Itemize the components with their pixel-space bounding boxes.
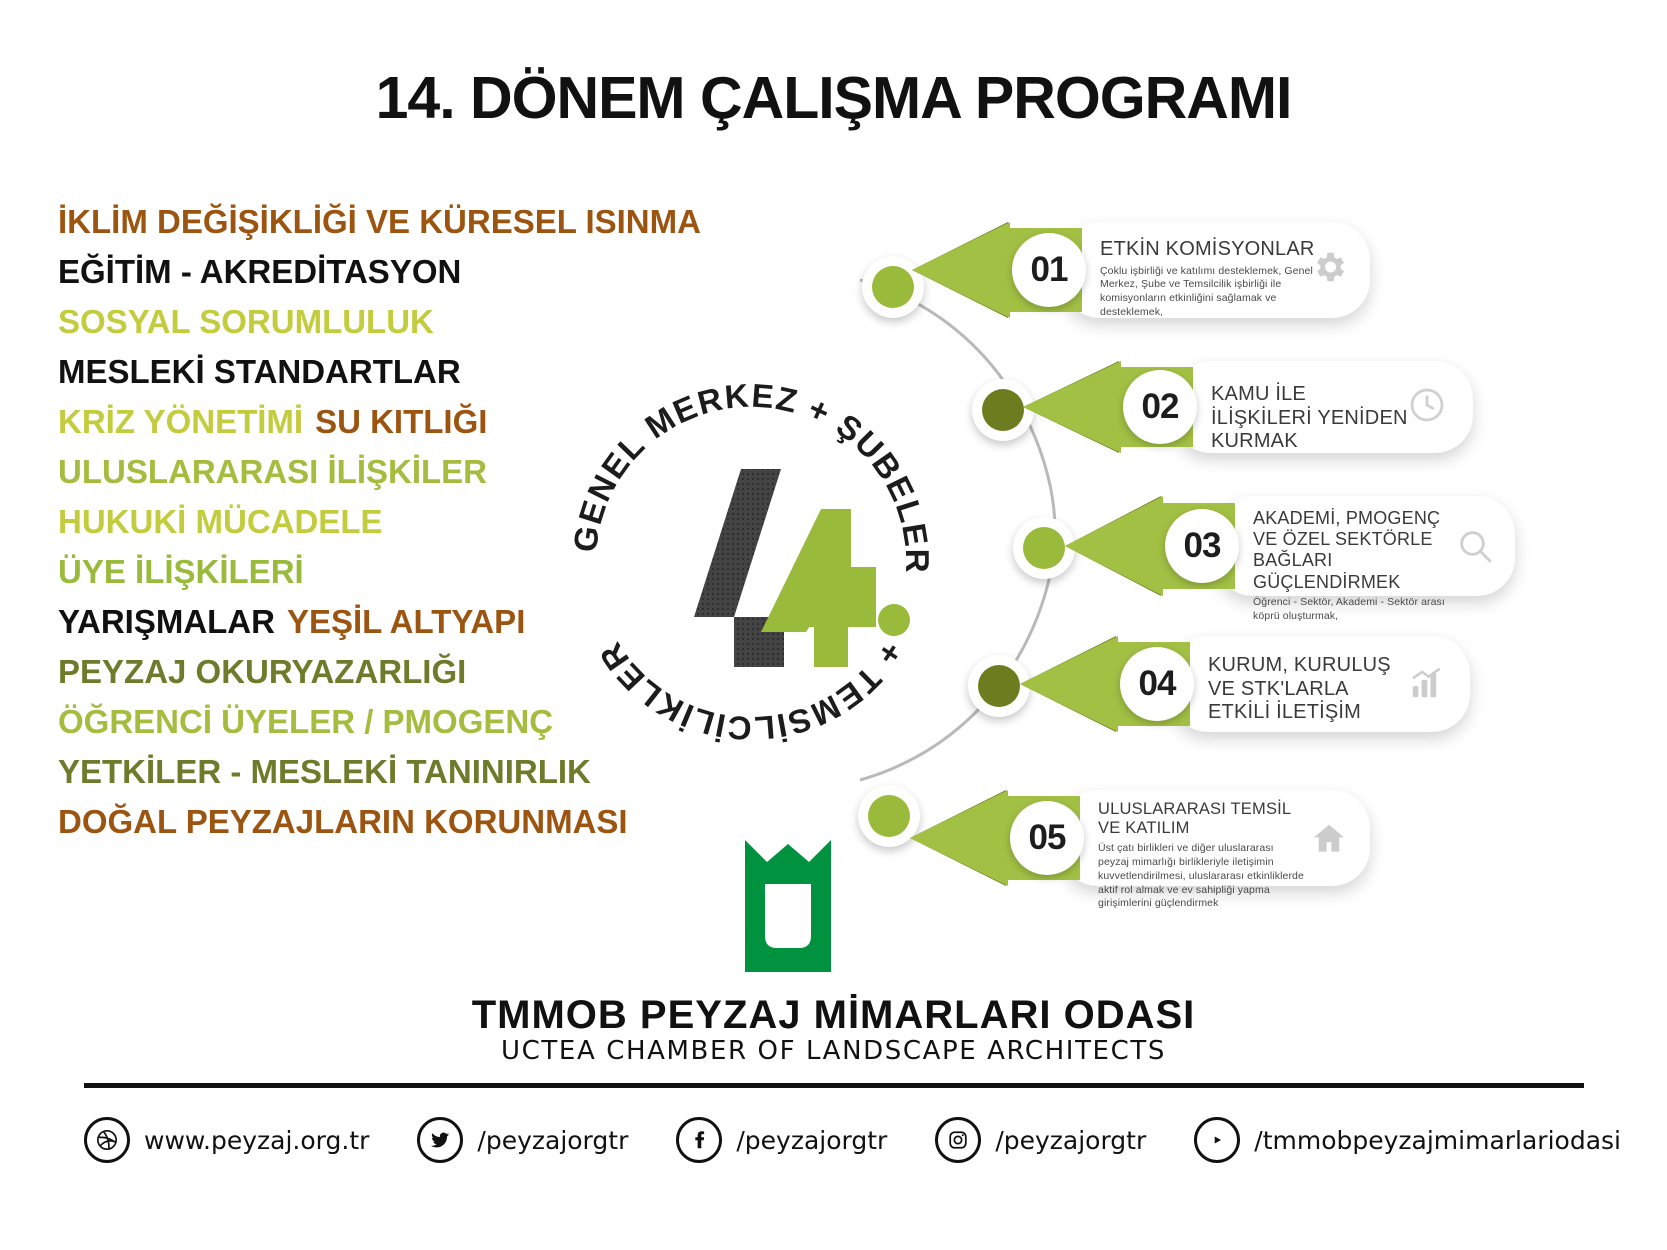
card-03-badge: 03	[1165, 509, 1239, 583]
gear-icon	[1310, 248, 1348, 291]
card-05-title: ULUSLARARASI TEMSİL VE KATILIM	[1098, 800, 1306, 839]
card-05[interactable]: 05 ULUSLARARASI TEMSİL VE KATILIM Üst ça…	[1060, 790, 1370, 886]
topic-segment: YARIŞMALAR	[58, 603, 275, 640]
card-05-desc: Üst çatı birlikleri ve diğer uluslararas…	[1098, 842, 1306, 911]
facebook-icon	[676, 1117, 722, 1163]
twitter-icon	[417, 1117, 463, 1163]
topic-segment: ÖĞRENCİ ÜYELER / PMOGENÇ	[58, 703, 553, 740]
topic-segment: SOSYAL SORUMLULUK	[58, 303, 434, 340]
card-01[interactable]: 01 ETKİN KOMİSYONLAR Çoklu işbirliği ve …	[1062, 222, 1370, 318]
card-02-badge: 02	[1123, 370, 1197, 444]
topic-item: SOSYAL SORUMLULUK	[58, 305, 758, 338]
home-icon	[1310, 820, 1348, 863]
search-icon	[1455, 526, 1495, 571]
topic-segment: YETKİLER - MESLEKİ TANINIRLIK	[58, 753, 591, 790]
topic-segment: ULUSLARARASI İLİŞKİLER	[58, 453, 487, 490]
topic-item: DOĞAL PEYZAJLARIN KORUNMASI	[58, 805, 758, 838]
topic-segment: EĞİTİM - AKREDİTASYON	[58, 253, 461, 290]
topic-segment: HUKUKİ MÜCADELE	[58, 503, 383, 540]
topic-segment: SU KITLIĞI	[315, 403, 487, 440]
social-bar: www.peyzaj.org.tr/peyzajorgtr/peyzajorgt…	[84, 1100, 1584, 1180]
card-01-desc: Çoklu işbirliği ve katılımı desteklemek,…	[1100, 265, 1318, 320]
social-label: /tmmobpeyzajmimarlariodasi	[1254, 1126, 1621, 1155]
card-04-title: KURUM, KURULUŞ VE STK'LARLA ETKİLİ İLETİ…	[1208, 654, 1408, 725]
organization-name: TMMOB PEYZAJ MİMARLARI ODASI	[0, 993, 1667, 1038]
card-04[interactable]: 04 KURUM, KURULUŞ VE STK'LARLA ETKİLİ İL…	[1170, 636, 1470, 732]
card-04-badge: 04	[1120, 647, 1194, 721]
social-link-facebook[interactable]: /peyzajorgtr	[676, 1117, 887, 1163]
card-05-badge: 05	[1010, 801, 1084, 875]
topic-item: İKLİM DEĞİŞİKLİĞİ VE KÜRESEL ISINMA	[58, 205, 758, 238]
page-title: 14. DÖNEM ÇALIŞMA PROGRAMI	[0, 64, 1667, 132]
clock-icon	[1407, 385, 1447, 430]
social-link-twitter[interactable]: /peyzajorgtr	[417, 1117, 628, 1163]
card-01-title: ETKİN KOMİSYONLAR	[1100, 238, 1318, 262]
organization-subtitle: UCTEA CHAMBER OF LANDSCAPE ARCHITECTS	[0, 1036, 1667, 1066]
card-03[interactable]: 03 AKADEMİ, PMOGENÇ VE ÖZEL SEKTÖRLE BAĞ…	[1215, 496, 1515, 596]
card-03-desc: Öğrenci - Sektör, Akademi - Sektör arası…	[1253, 596, 1453, 624]
topic-segment: KRİZ YÖNETİMİ	[58, 403, 303, 440]
org-logo-mark	[745, 840, 831, 972]
social-label: www.peyzaj.org.tr	[144, 1126, 369, 1155]
card-01-badge: 01	[1012, 233, 1086, 307]
social-label: /peyzajorgtr	[736, 1126, 887, 1155]
topic-segment: MESLEKİ STANDARTLAR	[58, 353, 461, 390]
chart-icon	[1408, 664, 1446, 707]
topic-segment: ÜYE İLİŞKİLERİ	[58, 553, 304, 590]
footer-divider	[84, 1083, 1584, 1088]
topic-segment: PEYZAJ OKURYAZARLIĞI	[58, 653, 466, 690]
social-link-youtube[interactable]: /tmmobpeyzajmimarlariodasi	[1194, 1117, 1621, 1163]
topic-segment: YEŞİL ALTYAPI	[287, 603, 525, 640]
card-02-title: KAMU İLE İLİŞKİLERİ YENİDEN KURMAK	[1211, 383, 1411, 454]
dribbble-icon	[84, 1117, 130, 1163]
topic-item: EĞİTİM - AKREDİTASYON	[58, 255, 758, 288]
social-link-instagram[interactable]: /peyzajorgtr	[935, 1117, 1146, 1163]
social-label: /peyzajorgtr	[995, 1126, 1146, 1155]
card-02[interactable]: 02 KAMU İLE İLİŞKİLERİ YENİDEN KURMAK	[1173, 361, 1473, 453]
social-link-dribbble[interactable]: www.peyzaj.org.tr	[84, 1117, 369, 1163]
youtube-icon	[1194, 1117, 1240, 1163]
card-03-title: AKADEMİ, PMOGENÇ VE ÖZEL SEKTÖRLE BAĞLAR…	[1253, 508, 1453, 593]
social-label: /peyzajorgtr	[477, 1126, 628, 1155]
topic-item: YETKİLER - MESLEKİ TANINIRLIK	[58, 755, 758, 788]
topic-segment: DOĞAL PEYZAJLARIN KORUNMASI	[58, 803, 628, 840]
topic-segment: İKLİM DEĞİŞİKLİĞİ VE KÜRESEL ISINMA	[58, 203, 701, 240]
instagram-icon	[935, 1117, 981, 1163]
